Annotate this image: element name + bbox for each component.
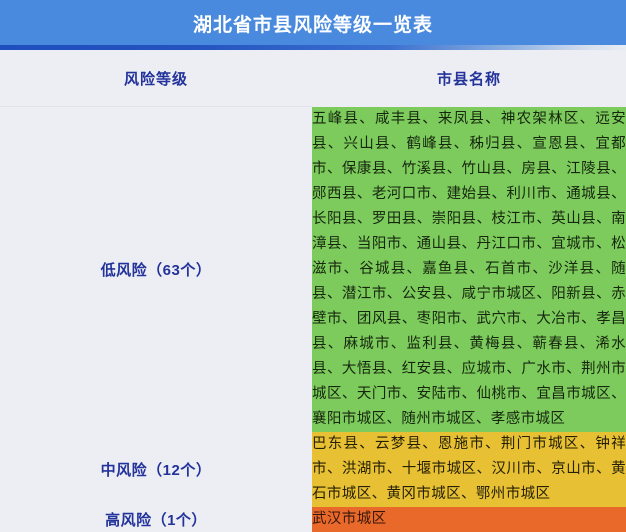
title-bar: 湖北省市县风险等级一览表 <box>0 0 626 50</box>
risk-level-label-high: 高风险（1个） <box>105 509 207 530</box>
table-row: 中风险（12个） 巴东县、云梦县、恩施市、荆门市城区、钟祥市、洪湖市、十堰市城区… <box>0 432 626 507</box>
table-row: 低风险（63个） 五峰县、咸丰县、来凤县、神农架林区、远安县、兴山县、鹤峰县、秭… <box>0 107 626 432</box>
column-header-risk-level-label: 风险等级 <box>0 68 312 89</box>
risk-level-table: 风险等级 市县名称 低风险（63个） 五峰县、咸丰县、来凤县、神农架林区、远安县… <box>0 50 626 532</box>
column-header-city-county: 市县名称 <box>312 50 626 107</box>
city-county-list-low: 五峰县、咸丰县、来凤县、神农架林区、远安县、兴山县、鹤峰县、秭归县、宣恩县、宜都… <box>312 107 626 432</box>
table-row: 高风险（1个） 武汉市城区 <box>0 507 626 532</box>
risk-level-cell-high: 高风险（1个） <box>0 507 312 532</box>
column-header-risk-level: 风险等级 <box>0 50 312 107</box>
risk-level-label-medium: 中风险（12个） <box>101 459 212 480</box>
page-title: 湖北省市县风险等级一览表 <box>193 16 433 35</box>
risk-level-label-low: 低风险（63个） <box>101 259 212 280</box>
city-county-cell-low: 五峰县、咸丰县、来凤县、神农架林区、远安县、兴山县、鹤峰县、秭归县、宣恩县、宜都… <box>312 107 626 432</box>
city-county-list-medium: 巴东县、云梦县、恩施市、荆门市城区、钟祥市、洪湖市、十堰市城区、汉川市、京山市、… <box>312 432 626 507</box>
city-county-cell-medium: 巴东县、云梦县、恩施市、荆门市城区、钟祥市、洪湖市、十堰市城区、汉川市、京山市、… <box>312 432 626 507</box>
risk-level-cell-low: 低风险（63个） <box>0 107 312 432</box>
title-bar-underline <box>0 45 626 50</box>
risk-level-cell-medium: 中风险（12个） <box>0 432 312 507</box>
city-county-cell-high: 武汉市城区 <box>312 507 626 532</box>
city-county-list-high: 武汉市城区 <box>312 507 626 532</box>
column-header-city-county-label: 市县名称 <box>312 68 626 89</box>
table-header-row: 风险等级 市县名称 <box>0 50 626 107</box>
